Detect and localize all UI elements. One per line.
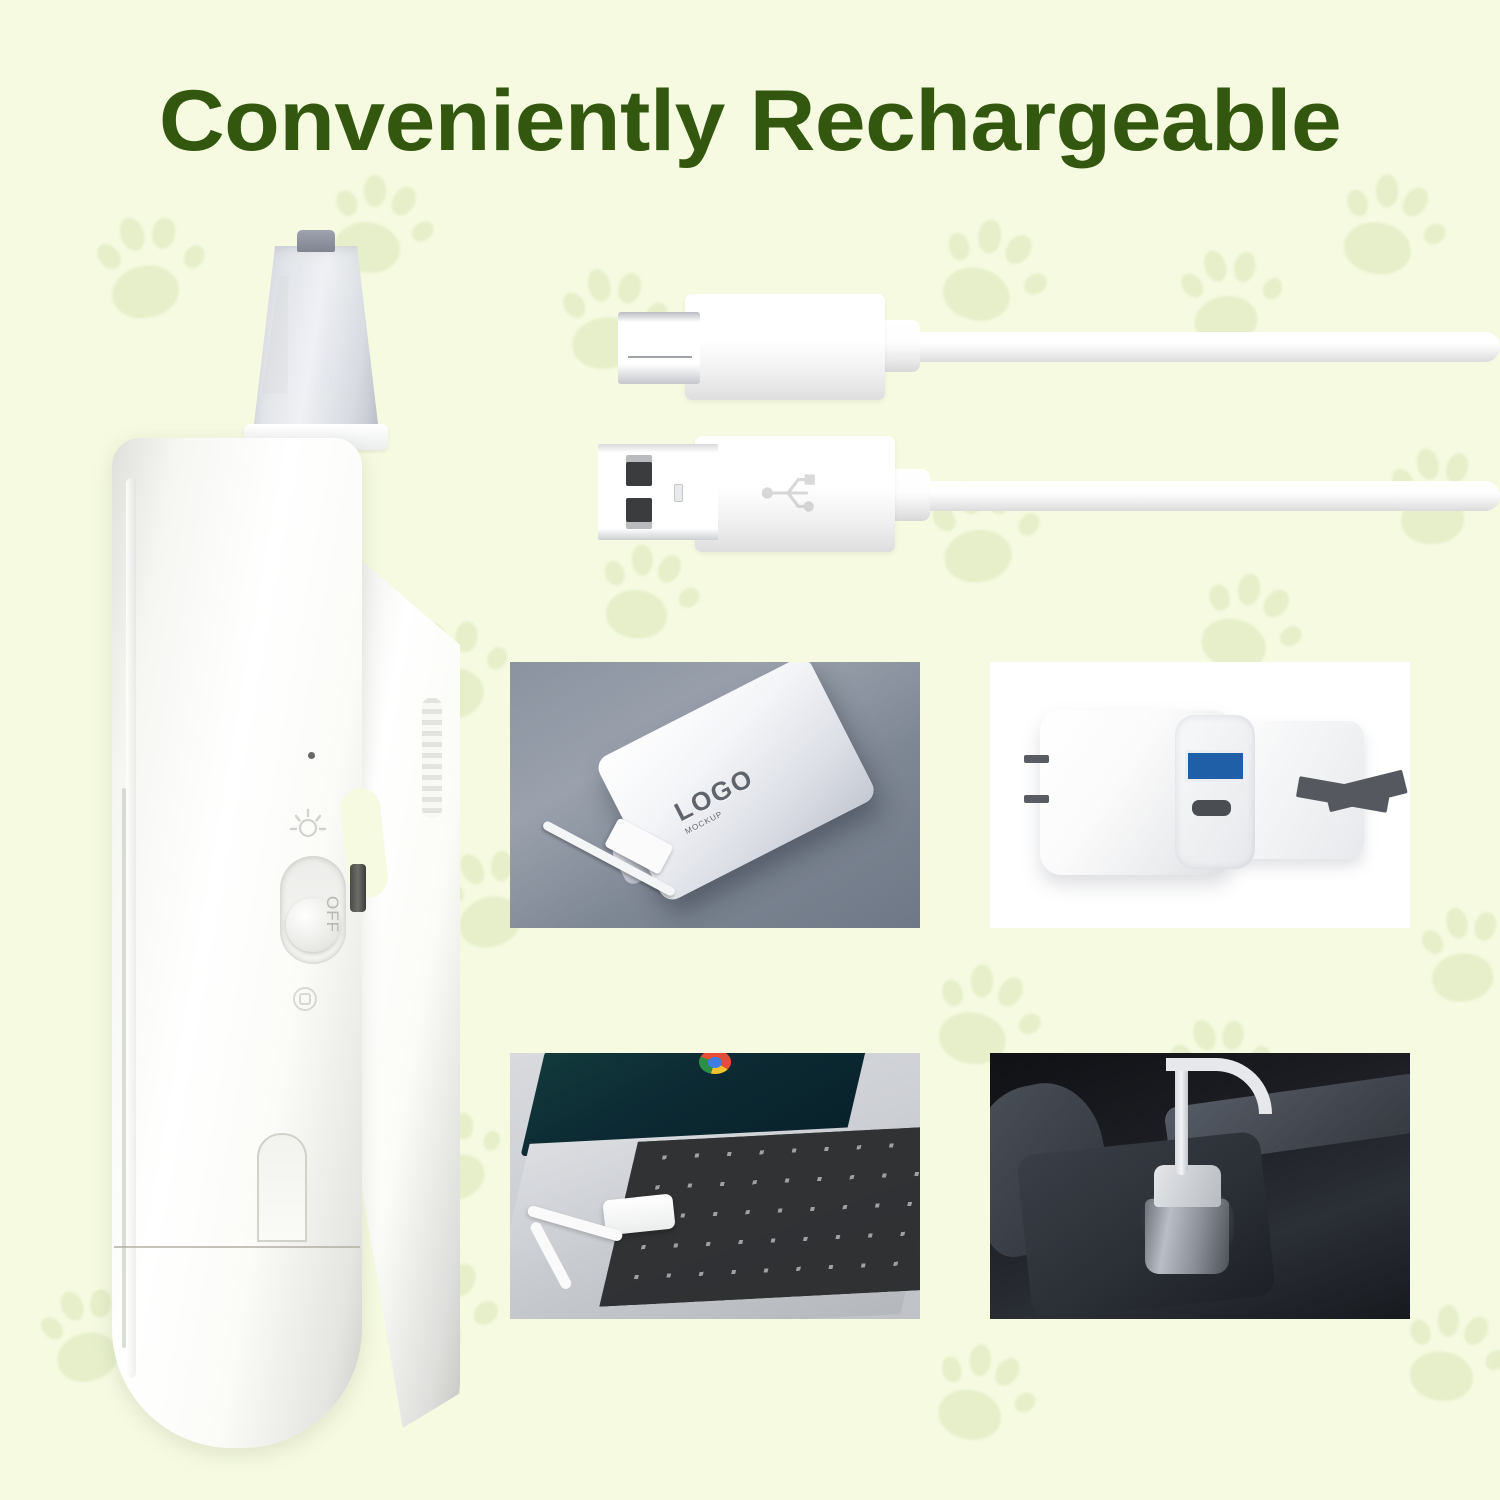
usb-a-cable	[590, 424, 1490, 584]
cap-tip	[297, 230, 335, 252]
power-icon	[290, 984, 320, 1014]
led-indicator-icon	[308, 752, 315, 759]
body-seam-line	[114, 1246, 360, 1248]
body-ridge	[122, 788, 126, 1348]
adapter-port-face	[1175, 715, 1255, 869]
car-socket-photo	[990, 1053, 1410, 1319]
connector-housing	[695, 436, 895, 552]
car-charger-barrel	[1145, 1199, 1229, 1273]
paw-print-icon	[1330, 151, 1467, 292]
micro-usb-contacts	[628, 338, 692, 358]
switch-off-label: OFF	[322, 896, 342, 933]
usb-c-port	[1192, 800, 1232, 816]
charging-option-power-bank[interactable]: LOGO MOCKUP Power Bank	[510, 662, 920, 928]
usb-contact-blade	[626, 462, 652, 486]
plug-prong	[1024, 795, 1049, 803]
usb-trident-icon	[757, 462, 819, 524]
cable-wire	[880, 332, 1500, 362]
page-title: Conveniently Rechargeable	[0, 78, 1500, 164]
micro-usb-tip	[618, 312, 700, 384]
paw-print-icon	[1397, 1283, 1500, 1415]
paw-print-icon	[1414, 885, 1500, 1011]
plug-prong	[1024, 755, 1049, 763]
power-bank-photo: LOGO MOCKUP	[510, 662, 920, 928]
lever-grip-ridges	[422, 698, 442, 818]
charging-option-adapter[interactable]: Adapter	[990, 662, 1410, 928]
light-icon	[288, 806, 328, 846]
connector-housing	[685, 294, 885, 400]
charging-option-car-charger[interactable]: Car Charger	[510, 1053, 920, 1319]
paw-print-icon	[924, 1320, 1058, 1459]
product-image-nail-grinder: OFF	[92, 228, 472, 1458]
usb-contact-blade	[626, 498, 652, 522]
wall-adapter-photo	[990, 662, 1410, 928]
transparent-guard-cap	[252, 246, 380, 441]
product-infographic: Conveniently Rechargeable OFF	[0, 0, 1500, 1500]
charging-port	[257, 1133, 307, 1242]
cable-wire	[890, 481, 1500, 511]
micro-usb-cable	[600, 288, 1480, 428]
laptop-usb-photo	[510, 1053, 920, 1319]
lever-pivot-pin	[350, 864, 366, 912]
charging-option-computer[interactable]: Computer	[990, 1053, 1410, 1319]
usb-a-tip	[598, 444, 718, 540]
usb-a-port	[1185, 750, 1246, 783]
usb-tongue-slot	[674, 484, 683, 502]
